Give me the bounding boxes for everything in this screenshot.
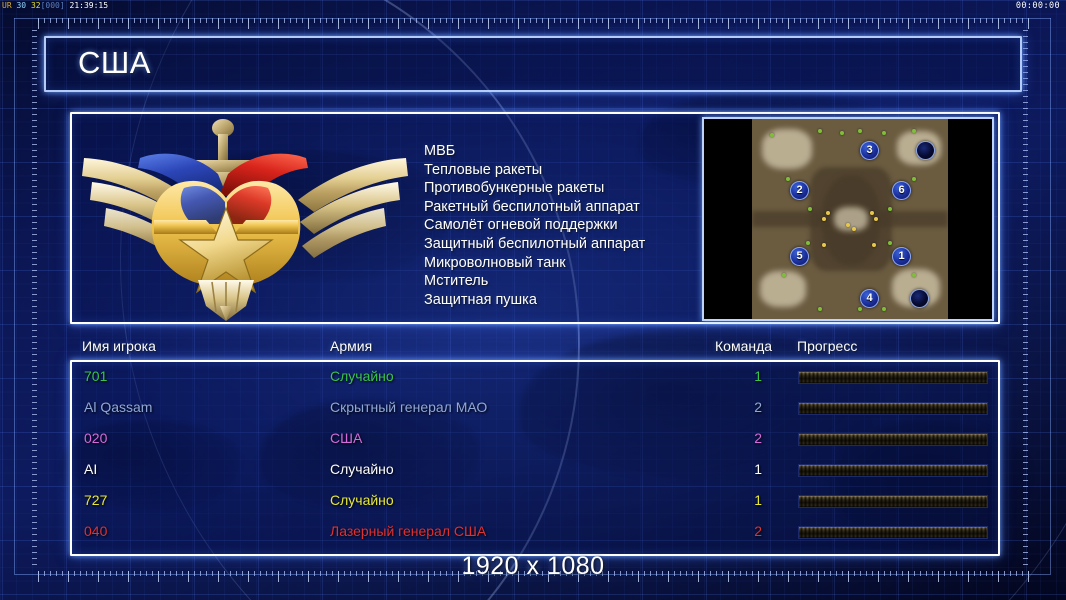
hud-part-3: [000] [41, 1, 65, 10]
player-rows: 701Случайно1Al QassamСкрытный генерал МА… [72, 362, 998, 548]
table-row: AIСлучайно1 [72, 455, 998, 486]
progress-bar [798, 402, 988, 415]
frame-line-right [1050, 18, 1051, 574]
cell-army: США [330, 430, 362, 446]
progress-bar-fill [799, 465, 987, 476]
cell-army: Случайно [330, 492, 394, 508]
hud-part-2: 32 [31, 1, 41, 10]
cell-team: 1 [740, 368, 762, 384]
header-progress: Прогресс [797, 338, 857, 354]
cell-player-name: 727 [84, 492, 107, 508]
minimap-start-position-2: 2 [790, 181, 809, 200]
table-row: 040Лазерный генерал США2 [72, 517, 998, 548]
frame-ruler-left [32, 30, 43, 570]
minimap-start-position-4: 4 [860, 289, 879, 308]
unit-list-item: Противобункерные ракеты [424, 179, 714, 198]
table-row: 020США2 [72, 424, 998, 455]
table-row: 701Случайно1 [72, 362, 998, 393]
frame-ruler-right [1023, 30, 1034, 570]
progress-bar [798, 433, 988, 446]
minimap-start-position-empty [916, 141, 935, 160]
cell-player-name: 701 [84, 368, 107, 384]
minimap-start-position-3: 3 [860, 141, 879, 160]
page-title: США [78, 45, 151, 81]
progress-bar [798, 495, 988, 508]
title-bar: США [44, 36, 1022, 92]
table-row: 727Случайно1 [72, 486, 998, 517]
hud-debug-readout: UR 30 32[000] 21:39:15 [2, 1, 108, 10]
faction-unit-list: МВБ Тепловые ракеты Противобункерные рак… [424, 142, 714, 309]
unit-list-item: Самолёт огневой поддержки [424, 216, 714, 235]
cell-army: Случайно [330, 368, 394, 384]
unit-list-item: Защитный беспилотный аппарат [424, 235, 714, 254]
unit-list-item: Ракетный беспилотный аппарат [424, 198, 714, 217]
unit-list-item: Мститель [424, 272, 714, 291]
cell-team: 2 [740, 523, 762, 539]
cell-army: Скрытный генерал МАО [330, 399, 487, 415]
progress-bar-fill [799, 372, 987, 383]
cell-team: 2 [740, 399, 762, 415]
frame-line-left [14, 18, 15, 574]
progress-bar-fill [799, 496, 987, 507]
progress-bar-fill [799, 403, 987, 414]
cell-team: 2 [740, 430, 762, 446]
progress-bar [798, 526, 988, 539]
hud-part-0: UR [2, 1, 12, 10]
cell-player-name: AI [84, 461, 97, 477]
cell-player-name: 020 [84, 430, 107, 446]
progress-bar [798, 371, 988, 384]
minimap-start-position-6: 6 [892, 181, 911, 200]
minimap-start-position-1: 1 [892, 247, 911, 266]
table-row: Al QassamСкрытный генерал МАО2 [72, 393, 998, 424]
faction-info-panel: МВБ Тепловые ракеты Противобункерные рак… [70, 112, 1000, 324]
cell-army: Случайно [330, 461, 394, 477]
frame-line-top [14, 18, 1051, 19]
unit-list-item: Микроволновый танк [424, 254, 714, 273]
cell-player-name: Al Qassam [84, 399, 152, 415]
unit-list-item: МВБ [424, 142, 714, 161]
unit-list-item: Тепловые ракеты [424, 161, 714, 180]
progress-bar-fill [799, 434, 987, 445]
usa-faction-emblem [80, 116, 410, 321]
cell-player-name: 040 [84, 523, 107, 539]
progress-bar [798, 464, 988, 477]
hud-part-4: 21:39:15 [70, 1, 109, 10]
minimap-start-position-5: 5 [790, 247, 809, 266]
progress-bar-fill [799, 527, 987, 538]
header-player-name: Имя игрока [82, 338, 156, 354]
player-table-header: Имя игрока Армия Команда Прогресс [70, 336, 1000, 360]
minimap: 326514 [702, 117, 994, 321]
minimap-start-position-empty [910, 289, 929, 308]
resolution-label: 1920 x 1080 [0, 552, 1066, 581]
game-loading-screen: UR 30 32[000] 21:39:15 00:00:00 США [0, 0, 1066, 600]
cell-team: 1 [740, 461, 762, 477]
header-team: Команда [715, 338, 772, 354]
unit-list-item: Защитная пушка [424, 291, 714, 310]
cell-army: Лазерный генерал США [330, 523, 486, 539]
cell-team: 1 [740, 492, 762, 508]
frame-ruler-top [38, 18, 1030, 29]
minimap-terrain: 326514 [752, 119, 948, 319]
header-army: Армия [330, 338, 372, 354]
hud-part-1: 30 [16, 1, 26, 10]
player-table: 701Случайно1Al QassamСкрытный генерал МА… [70, 360, 1000, 556]
hud-timer: 00:00:00 [1016, 1, 1060, 11]
